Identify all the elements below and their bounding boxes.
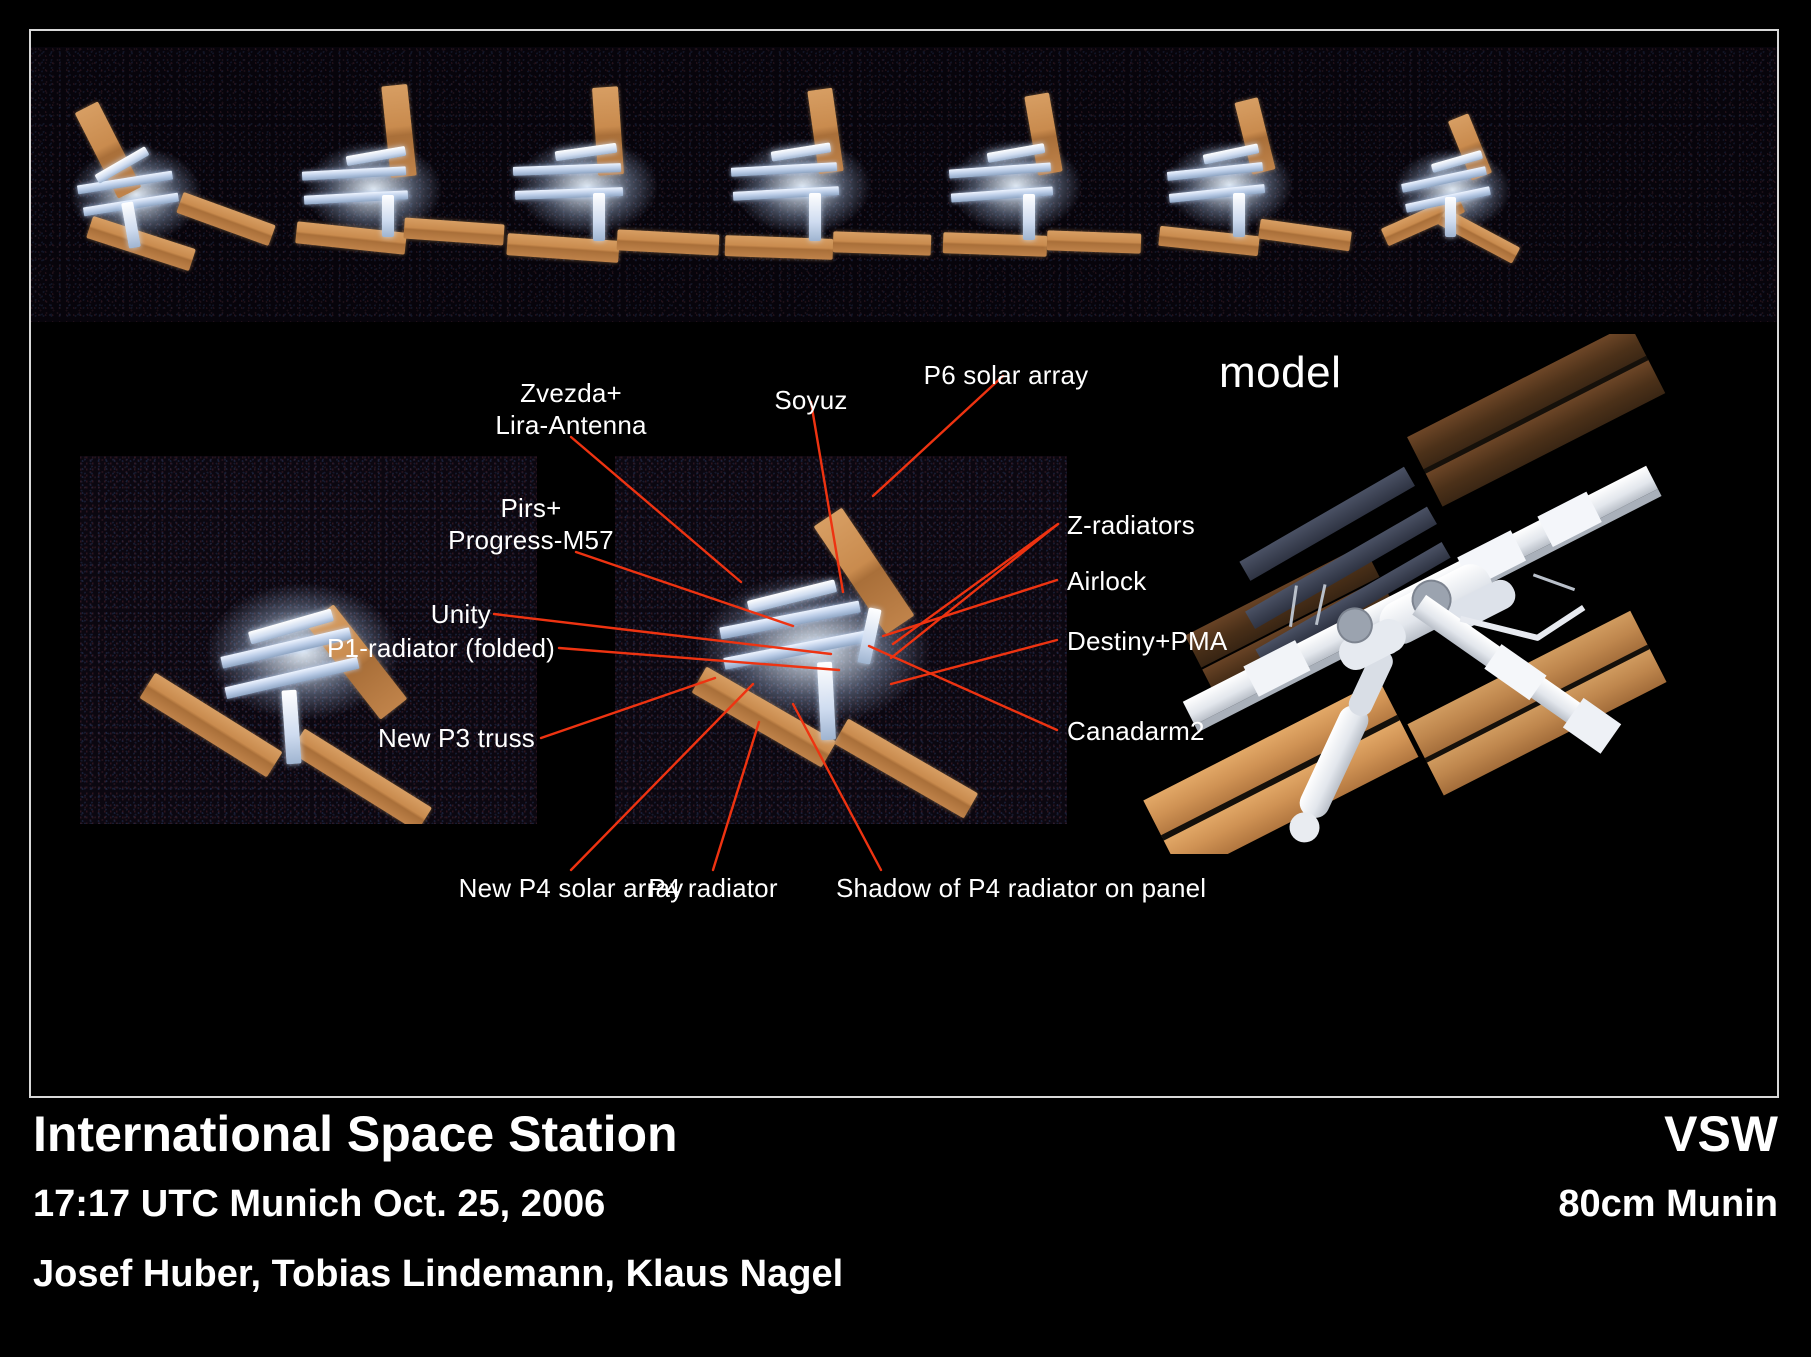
annotation-unity-line1: Unity (291, 598, 491, 630)
annotation-canadarm2-line1: Canadarm2 (1067, 715, 1205, 747)
annotation-p3truss-line1: New P3 truss (241, 722, 535, 754)
caption-org: VSW (1664, 1105, 1778, 1163)
annotation-p4radiator-line1: P4 radiator (623, 872, 803, 904)
filmstrip-sequence (31, 47, 1777, 322)
caption-time: 17:17 UTC Munich Oct. 25, 2006 (33, 1183, 605, 1226)
annotation-p4shadow-line1: Shadow of P4 radiator on panel (836, 872, 1206, 904)
annotation-zradiators: Z-radiators (1067, 509, 1195, 541)
annotation-p1radiator-line1: P1-radiator (folded) (231, 632, 555, 664)
annotation-p1radiator: P1-radiator (folded) (231, 632, 555, 664)
annotation-unity: Unity (291, 598, 491, 630)
annotation-p6array: P6 solar array (871, 359, 1141, 391)
iss-model-svg (1061, 334, 1761, 854)
annotation-airlock: Airlock (1067, 565, 1146, 597)
photo-panel-annotated (615, 456, 1067, 824)
annotation-airlock-line1: Airlock (1067, 565, 1146, 597)
annotation-zradiators-line1: Z-radiators (1067, 509, 1195, 541)
annotation-zvezda-line2: Lira-Antenna (441, 409, 701, 441)
annotation-zvezda: Zvezda+ Lira-Antenna (441, 377, 701, 441)
poster-root: Zvezda+ Lira-Antenna Pirs+ Progress-M57 … (0, 0, 1811, 1357)
annotation-destiny: Destiny+PMA (1067, 625, 1227, 657)
caption-scope: 80cm Munin (1558, 1183, 1778, 1226)
annotation-pirs-line2: Progress-M57 (401, 524, 661, 556)
annotation-zvezda-line1: Zvezda+ (441, 377, 701, 409)
caption-authors: Josef Huber, Tobias Lindemann, Klaus Nag… (33, 1253, 843, 1296)
filmstrip-frame-7 (1361, 97, 1561, 282)
caption-block: International Space Station 17:17 UTC Mu… (0, 1105, 1811, 1357)
annotation-pirs: Pirs+ Progress-M57 (401, 492, 661, 556)
image-frame: Zvezda+ Lira-Antenna Pirs+ Progress-M57 … (29, 29, 1779, 1098)
annotation-canadarm2: Canadarm2 (1067, 715, 1205, 747)
model-label: model (1219, 348, 1341, 398)
annotation-p6array-line1: P6 solar array (871, 359, 1141, 391)
filmstrip-frame-6 (1141, 85, 1356, 285)
caption-title: International Space Station (33, 1105, 678, 1163)
filmstrip-frame-2 (286, 77, 501, 287)
filmstrip-frame-1 (51, 82, 266, 287)
filmstrip-frame-3 (499, 77, 714, 287)
annotation-destiny-line1: Destiny+PMA (1067, 625, 1227, 657)
filmstrip-frame-5 (927, 82, 1142, 287)
annotated-panels: Zvezda+ Lira-Antenna Pirs+ Progress-M57 … (31, 324, 1777, 1096)
annotation-p3truss: New P3 truss (241, 722, 535, 754)
annotation-p4shadow: Shadow of P4 radiator on panel (836, 872, 1206, 904)
annotation-pirs-line1: Pirs+ (401, 492, 661, 524)
filmstrip-frame-4 (713, 77, 928, 287)
annotation-p4radiator: P4 radiator (623, 872, 803, 904)
iss-3d-model (1061, 334, 1761, 854)
